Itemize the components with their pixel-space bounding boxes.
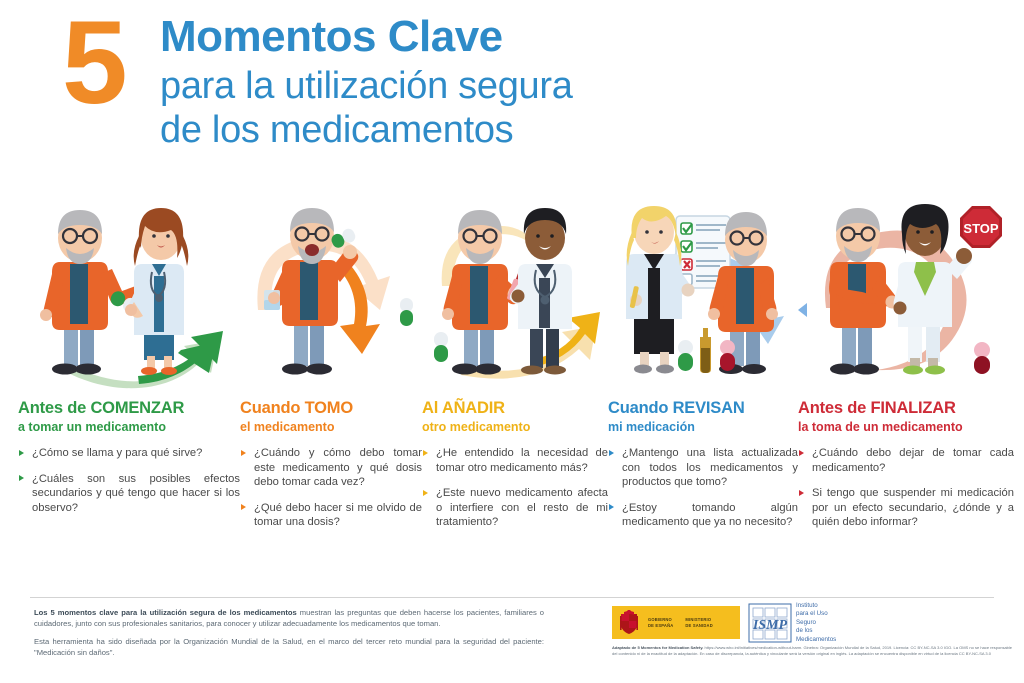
footer-paragraph-1: Los 5 momentos clave para la utilización…: [34, 607, 544, 629]
bullet-text: ¿Cómo se llama y para qué sirve?: [32, 447, 202, 459]
footer-fineprint: Adaptado de 5 Momentos for Medication Sa…: [612, 645, 1012, 656]
panel-5-heading-main: Antes de FINALIZAR: [798, 398, 1014, 418]
panel-anadir: Al AÑADIR otro medicamento ¿He entendido…: [422, 190, 608, 590]
bullet-text: ¿Este nuevo medicamento afecta o interfi…: [436, 487, 608, 528]
panel-3-heading-main: Al AÑADIR: [422, 398, 608, 418]
logo-gobierno-line-1: GOBIERNO: [648, 617, 673, 622]
panel-4-heading-sub: mi medicación: [608, 419, 798, 435]
panel-tomo: Cuando TOMO el medicamento ¿Cuándo y cóm…: [240, 190, 422, 590]
title-line-2: para la utilización segura: [160, 64, 573, 108]
title-line-3: de los medicamentos: [160, 108, 573, 152]
list-item: ¿Cómo se llama y para qué sirve?: [18, 446, 240, 461]
logo-gobierno-text: GOBIERNO DE ESPAÑA MINISTERIO DE SANIDAD: [648, 617, 713, 627]
panel-5-heading: Antes de FINALIZAR la toma de un medicam…: [798, 398, 1014, 435]
list-item: Si tengo que suspender mi medicación por…: [798, 486, 1014, 530]
footer-paragraph-1-lead: Los 5 momentos clave para la utilización…: [34, 608, 297, 617]
list-item: ¿He entendido la necesidad de tomar otro…: [422, 446, 608, 475]
bullet-text: ¿He entendido la necesidad de tomar otro…: [436, 447, 608, 474]
bullet-text: ¿Mantengo una lista actualizada con todo…: [622, 447, 798, 488]
logo-ismp-line-3: de los Medicamentos: [796, 627, 836, 644]
patient-taking-pill-with-water-icon: [240, 190, 422, 398]
panel-3-illustration: [422, 190, 608, 398]
doctor-reviewing-medication-checklist-icon: [608, 190, 798, 398]
title-block: Momentos Clave para la utilización segur…: [160, 12, 573, 152]
bullet-triangle-icon: [609, 504, 614, 510]
panels-row: Antes de COMENZAR a tomar un medicamento…: [0, 190, 1024, 590]
panel-2-heading-main: Cuando TOMO: [240, 398, 422, 418]
logo-ministerio-block: MINISTERIO DE SANIDAD: [685, 617, 712, 627]
bullet-text: ¿Cuándo y cómo debo tomar este medicamen…: [254, 447, 422, 488]
logo-ismp-text: Instituto para el Uso Seguro de los Medi…: [796, 602, 836, 644]
big-number-five: 5: [62, 4, 124, 122]
panel-1-heading-main: Antes de COMENZAR: [18, 398, 240, 418]
logo-ismp-line-1: Instituto: [796, 602, 836, 610]
header: 5 Momentos Clave para la utilización seg…: [0, 0, 1024, 190]
panel-revisan: Cuando REVISAN mi medicación ¿Mantengo u…: [608, 190, 798, 590]
logo-gobierno-block: GOBIERNO DE ESPAÑA: [648, 617, 673, 627]
panel-1-bullets: ¿Cómo se llama y para qué sirve? ¿Cuáles…: [18, 446, 240, 526]
panel-5-bullets: ¿Cuándo debo dejar de tomar cada medicam…: [798, 446, 1014, 541]
footer-paragraph-2: Esta herramienta ha sido diseñada por la…: [34, 636, 544, 658]
panel-2-illustration: [240, 190, 422, 398]
patient-receiving-additional-medication-icon: [422, 190, 608, 398]
panel-4-illustration: [608, 190, 798, 398]
bullet-text: ¿Cuáles son sus posibles efectos secunda…: [32, 473, 240, 514]
panel-finalizar: STOP Antes de FINALIZAR la toma de un me…: [798, 190, 1014, 590]
list-item: ¿Este nuevo medicamento afecta o interfi…: [422, 486, 608, 530]
bullet-text: ¿Estoy tomando algún medicamento que ya …: [622, 502, 798, 529]
panel-4-heading: Cuando REVISAN mi medicación: [608, 398, 798, 435]
title-line-1: Momentos Clave: [160, 12, 573, 62]
panel-2-bullets: ¿Cuándo y cómo debo tomar este medicamen…: [240, 446, 422, 541]
bullet-text: Si tengo que suspender mi medicación por…: [812, 487, 1014, 528]
logo-ismp-line-2: para el Uso Seguro: [796, 610, 836, 627]
bullet-triangle-icon: [799, 490, 804, 496]
panel-2-heading-sub: el medicamento: [240, 419, 422, 435]
infographic-page: 5 Momentos Clave para la utilización seg…: [0, 0, 1024, 683]
ismp-abbreviation: ISMP: [752, 618, 788, 633]
bullet-triangle-icon: [423, 490, 428, 496]
bullet-triangle-icon: [241, 504, 246, 510]
bullet-triangle-icon: [19, 450, 24, 456]
logo-ismp: ISMP Instituto para el Uso Seguro de los…: [748, 602, 836, 644]
bullet-triangle-icon: [241, 450, 246, 456]
footer: Los 5 momentos clave para la utilización…: [0, 598, 1024, 683]
spain-coat-of-arms-icon: [617, 610, 641, 636]
bullet-triangle-icon: [19, 475, 24, 481]
panel-1-illustration: [18, 190, 240, 398]
panel-3-bullets: ¿He entendido la necesidad de tomar otro…: [422, 446, 608, 541]
list-item: ¿Cuáles son sus posibles efectos secunda…: [18, 472, 240, 516]
panel-1-heading-sub: a tomar un medicamento: [18, 419, 240, 435]
list-item: ¿Cuándo debo dejar de tomar cada medicam…: [798, 446, 1014, 475]
panel-5-illustration: STOP: [798, 190, 1014, 398]
panel-4-bullets: ¿Mantengo una lista actualizada con todo…: [608, 446, 798, 541]
fineprint-lead: Adaptado de 5 Momentos for Medication Sa…: [612, 645, 703, 650]
bullet-text: ¿Cuándo debo dejar de tomar cada medicam…: [812, 447, 1014, 474]
panel-3-heading-sub: otro medicamento: [422, 419, 608, 435]
panel-comenzar: Antes de COMENZAR a tomar un medicamento…: [18, 190, 240, 590]
panel-4-heading-main: Cuando REVISAN: [608, 398, 798, 418]
bullet-triangle-icon: [609, 450, 614, 456]
logo-ministerio-line-1: MINISTERIO: [685, 617, 712, 622]
logo-ministerio-line-2: DE SANIDAD: [685, 623, 712, 628]
panel-1-heading: Antes de COMENZAR a tomar un medicamento: [18, 398, 240, 435]
ismp-mark-icon: ISMP: [748, 603, 792, 643]
stop-sign-label: STOP: [963, 221, 998, 236]
logo-gobierno-de-espana: GOBIERNO DE ESPAÑA MINISTERIO DE SANIDAD: [612, 606, 740, 639]
footer-description: Los 5 momentos clave para la utilización…: [34, 607, 544, 665]
doctor-holding-stop-sign-icon: STOP: [798, 190, 1014, 398]
bullet-text: ¿Qué debo hacer si me olvido de tomar un…: [254, 502, 422, 529]
bullet-triangle-icon: [799, 450, 804, 456]
panel-3-heading: Al AÑADIR otro medicamento: [422, 398, 608, 435]
list-item: ¿Qué debo hacer si me olvido de tomar un…: [240, 501, 422, 530]
list-item: ¿Estoy tomando algún medicamento que ya …: [608, 501, 798, 530]
logo-gobierno-line-2: DE ESPAÑA: [648, 623, 673, 628]
list-item: ¿Cuándo y cómo debo tomar este medicamen…: [240, 446, 422, 490]
bullet-triangle-icon: [423, 450, 428, 456]
panel-2-heading: Cuando TOMO el medicamento: [240, 398, 422, 435]
patient-receiving-medication-from-doctor-icon: [18, 190, 240, 398]
list-item: ¿Mantengo una lista actualizada con todo…: [608, 446, 798, 490]
panel-5-heading-sub: la toma de un medicamento: [798, 419, 1014, 435]
